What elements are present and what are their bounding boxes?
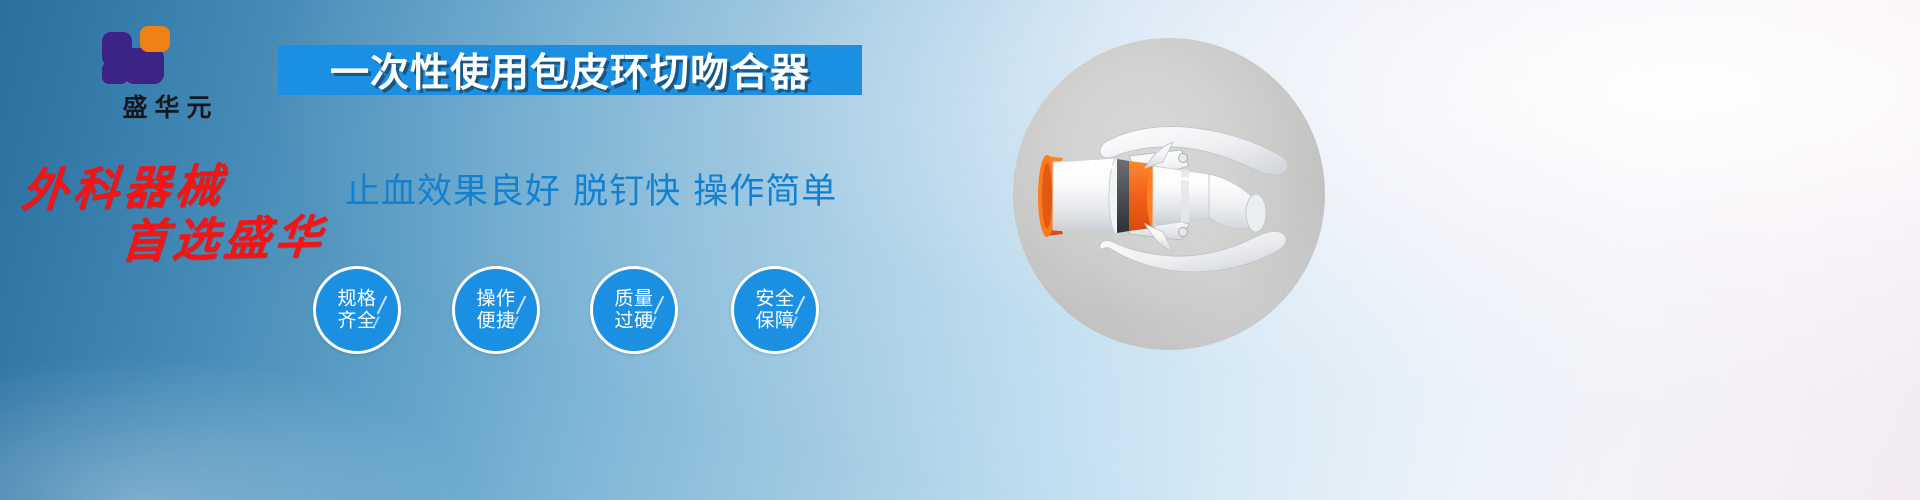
company-name: 盛华元	[72, 88, 262, 124]
badge-line-2: 过硬	[614, 310, 653, 332]
page-title: 一次性使用包皮环切吻合器	[278, 42, 862, 98]
badge-line-1: 操作	[476, 288, 515, 310]
feature-badge-group: 规格齐全 操作便捷 质量过硬 安全保障	[313, 266, 833, 358]
badge-line-1: 质量	[614, 288, 653, 310]
feature-badge-2[interactable]: 操作便捷	[452, 266, 540, 354]
feature-badge-1[interactable]: 规格齐全	[313, 266, 401, 354]
calligraphy-line-2: 首选盛华	[119, 201, 329, 272]
subtitle: 止血效果良好 脱钉快 操作简单	[345, 163, 837, 214]
feature-badge-4[interactable]: 安全保障	[731, 266, 819, 354]
logo-mark-icon	[102, 26, 178, 84]
product-photo: 一次性使用包皮环切吻合器产品实物图	[1013, 38, 1325, 350]
badge-line-1: 规格	[337, 288, 376, 310]
badge-line-2: 保障	[755, 310, 794, 332]
badge-line-1: 安全	[755, 288, 794, 310]
brand-logo: 盛华元	[72, 26, 262, 126]
feature-badge-3[interactable]: 质量过硬	[590, 266, 678, 354]
title-bar: 一次性使用包皮环切吻合器	[278, 45, 862, 95]
stapler-illustration-icon	[1013, 38, 1325, 350]
badge-line-2: 便捷	[476, 310, 515, 332]
badge-line-2: 齐全	[337, 310, 376, 332]
promo-banner: 盛华元 外科器械 首选盛华 一次性使用包皮环切吻合器 止血效果良好 脱钉快 操作…	[0, 0, 1920, 500]
